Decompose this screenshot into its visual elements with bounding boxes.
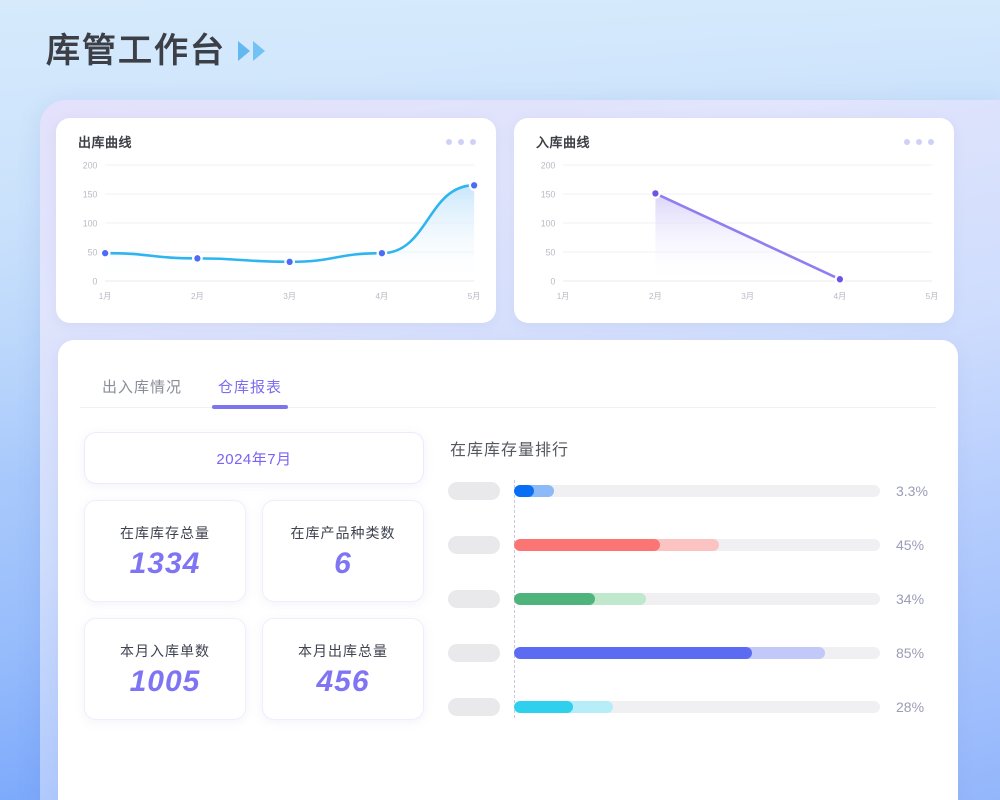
- y-axis-tick-label: 150: [83, 189, 98, 199]
- report-body: 2024年7月 在库库存总量 1334 在库产品种类数 6 本月入库单数 100…: [80, 432, 936, 720]
- x-axis-tick-label: 1月: [99, 291, 112, 301]
- ranking-name-placeholder: [448, 536, 500, 554]
- y-axis-tick-label: 50: [546, 247, 556, 257]
- x-axis-tick-label: 2月: [191, 291, 204, 301]
- chart-data-point[interactable]: [379, 250, 385, 256]
- x-axis-tick-label: 3月: [283, 291, 296, 301]
- ranking-column: 在库库存量排行 3.3%45%34%85%28%: [448, 432, 936, 720]
- x-axis-tick-label: 4月: [833, 291, 846, 301]
- period-selector[interactable]: 2024年7月: [84, 432, 424, 484]
- ranking-bar-dark: [514, 701, 573, 713]
- ranking-bar-track: [514, 593, 880, 605]
- ranking-list: 3.3%45%34%85%28%: [448, 478, 936, 720]
- chart-header-inbound: 入库曲线: [528, 132, 938, 151]
- ranking-percent-label: 28%: [880, 699, 936, 715]
- y-axis-tick-label: 200: [83, 160, 98, 170]
- chart-data-point[interactable]: [837, 276, 843, 282]
- chart-data-point[interactable]: [287, 259, 293, 265]
- stat-value: 456: [316, 667, 369, 697]
- x-axis-tick-label: 3月: [741, 291, 754, 301]
- more-dots-icon[interactable]: [446, 139, 476, 145]
- stat-value: 6: [334, 549, 352, 579]
- stat-label: 本月出库总量: [298, 641, 388, 661]
- more-dots-icon[interactable]: [904, 139, 934, 145]
- y-axis-tick-label: 0: [550, 276, 555, 286]
- tab-bar: 出入库情况 仓库报表: [80, 358, 936, 408]
- ranking-bar-dark: [514, 485, 534, 497]
- ranking-name-placeholder: [448, 644, 500, 662]
- stat-label: 本月入库单数: [120, 641, 210, 661]
- ranking-bar-track: [514, 485, 880, 497]
- y-axis-tick-label: 150: [541, 189, 556, 199]
- report-card: 出入库情况 仓库报表 2024年7月 在库库存总量 1334 在库产品种类数 6: [58, 340, 958, 800]
- stat-label: 在库库存总量: [120, 523, 210, 543]
- page-title: 库管工作台: [46, 34, 265, 68]
- ranking-bar-track: [514, 539, 880, 551]
- ranking-percent-label: 85%: [880, 645, 936, 661]
- chart-data-point[interactable]: [194, 255, 200, 261]
- stat-card-total-stock[interactable]: 在库库存总量 1334: [84, 500, 246, 602]
- double-right-arrow-icon: [238, 41, 265, 61]
- ranking-bar-track: [514, 647, 880, 659]
- ranking-row[interactable]: 85%: [448, 640, 936, 666]
- chart-plot-outbound: 0501001502001月2月3月4月5月: [70, 157, 480, 307]
- x-axis-tick-label: 2月: [649, 291, 662, 301]
- chart-card-inbound: 入库曲线 0501001502001月2月3月4月5月: [514, 118, 954, 323]
- chart-header-outbound: 出库曲线: [70, 132, 480, 151]
- x-axis-tick-label: 5月: [926, 291, 939, 301]
- chart-title-outbound: 出库曲线: [78, 132, 132, 151]
- ranking-percent-label: 34%: [880, 591, 936, 607]
- chart-data-point[interactable]: [652, 190, 658, 196]
- chart-plot-inbound: 0501001502001月2月3月4月5月: [528, 157, 938, 307]
- y-axis-tick-label: 50: [88, 247, 98, 257]
- chart-title-inbound: 入库曲线: [536, 132, 590, 151]
- x-axis-tick-label: 1月: [557, 291, 570, 301]
- ranking-bar-dark: [514, 593, 595, 605]
- ranking-row[interactable]: 34%: [448, 586, 936, 612]
- ranking-percent-label: 45%: [880, 537, 936, 553]
- x-axis-tick-label: 4月: [375, 291, 388, 301]
- stat-card-product-types[interactable]: 在库产品种类数 6: [262, 500, 424, 602]
- stat-value: 1005: [130, 667, 201, 697]
- page-title-text: 库管工作台: [46, 34, 226, 68]
- tab-warehouse-report[interactable]: 仓库报表: [218, 376, 282, 407]
- ranking-row[interactable]: 28%: [448, 694, 936, 720]
- stat-card-inbound-orders[interactable]: 本月入库单数 1005: [84, 618, 246, 720]
- ranking-bar-track: [514, 701, 880, 713]
- period-label: 2024年7月: [216, 448, 291, 469]
- y-axis-tick-label: 100: [541, 218, 556, 228]
- tab-inout-status[interactable]: 出入库情况: [102, 376, 182, 407]
- stat-grid: 在库库存总量 1334 在库产品种类数 6 本月入库单数 1005 本月出库总量…: [84, 500, 424, 720]
- dashboard-panel: 出库曲线 0501001502001月2月3月4月5月 入库曲线 0501001…: [40, 100, 1000, 800]
- stat-label: 在库产品种类数: [291, 523, 396, 543]
- x-axis-tick-label: 5月: [468, 291, 481, 301]
- chart-data-point[interactable]: [471, 182, 477, 188]
- ranking-name-placeholder: [448, 482, 500, 500]
- charts-row: 出库曲线 0501001502001月2月3月4月5月 入库曲线 0501001…: [56, 118, 984, 323]
- ranking-row[interactable]: 45%: [448, 532, 936, 558]
- y-axis-tick-label: 100: [83, 218, 98, 228]
- ranking-name-placeholder: [448, 698, 500, 716]
- ranking-name-placeholder: [448, 590, 500, 608]
- chart-card-outbound: 出库曲线 0501001502001月2月3月4月5月: [56, 118, 496, 323]
- stats-column: 2024年7月 在库库存总量 1334 在库产品种类数 6 本月入库单数 100…: [84, 432, 424, 720]
- stat-card-outbound-total[interactable]: 本月出库总量 456: [262, 618, 424, 720]
- ranking-title: 在库库存量排行: [448, 436, 936, 460]
- y-axis-tick-label: 0: [92, 276, 97, 286]
- ranking-bar-dark: [514, 539, 660, 551]
- ranking-percent-label: 3.3%: [880, 483, 936, 499]
- chart-data-point[interactable]: [102, 250, 108, 256]
- stat-value: 1334: [130, 549, 201, 579]
- ranking-row[interactable]: 3.3%: [448, 478, 936, 504]
- ranking-bar-dark: [514, 647, 752, 659]
- y-axis-tick-label: 200: [541, 160, 556, 170]
